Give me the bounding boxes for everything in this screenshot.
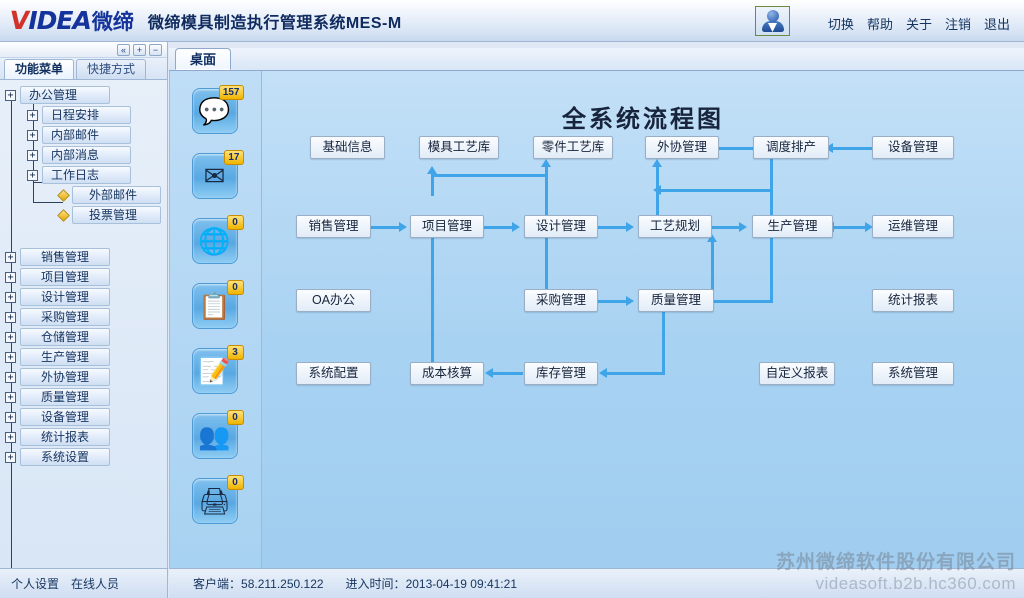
tab-desktop[interactable]: 桌面 — [175, 48, 231, 70]
contacts-glyph: 👥 — [198, 423, 230, 449]
tree-toggle-icon[interactable]: + — [5, 292, 16, 303]
tree-toggle-icon[interactable]: + — [27, 110, 38, 121]
conn-line — [598, 226, 627, 229]
tree-node-work-log[interactable]: + 工作日志 — [0, 165, 167, 185]
sidebar-tree: + 办公管理 + 日程安排 + 内部邮件 + 内部消息 + 工作日志 外部邮件 … — [0, 81, 168, 568]
conn-arrow-up — [652, 159, 662, 167]
rail-item-printer[interactable]: 0 🖨 — [192, 478, 240, 526]
tree-node-label[interactable]: 内部消息 — [42, 146, 131, 164]
tree-node-label[interactable]: 办公管理 — [20, 86, 110, 104]
flow-box-yunweiguanli[interactable]: 运维管理 — [872, 215, 954, 238]
tree-toggle-icon[interactable]: + — [27, 150, 38, 161]
conn-line — [770, 189, 773, 303]
conn-line — [493, 372, 523, 375]
flow-box-zidingyibaobiao[interactable]: 自定义报表 — [759, 362, 835, 385]
conn-line — [371, 226, 400, 229]
sidebar-toolbar: « + − — [0, 42, 167, 58]
flow-box-xiaoshouguanli[interactable]: 销售管理 — [296, 215, 371, 238]
header-menu-help[interactable]: 帮助 — [867, 14, 893, 33]
document-list-badge: 3 — [227, 345, 244, 360]
flow-box-mojugongyiku[interactable]: 模具工艺库 — [419, 136, 499, 159]
tree-toggle-icon[interactable]: + — [27, 170, 38, 181]
tree-toggle-icon[interactable]: + — [5, 312, 16, 323]
header-menu-logout[interactable]: 注销 — [945, 14, 971, 33]
tree-node-schedule[interactable]: + 日程安排 — [0, 105, 167, 125]
mail-badge: 17 — [224, 150, 243, 165]
conn-line — [484, 226, 513, 229]
sidebar-item-equipment[interactable]: + 设备管理 — [0, 407, 167, 427]
flow-box-jichuxinxi[interactable]: 基础信息 — [310, 136, 385, 159]
sidebar-item-design[interactable]: + 设计管理 — [0, 287, 167, 307]
sidebar-item-project[interactable]: + 项目管理 — [0, 267, 167, 287]
tree-node-label[interactable]: 日程安排 — [42, 106, 131, 124]
logo-idea-text: IDEA — [28, 6, 90, 35]
globe-glyph: 🌐 — [198, 228, 230, 254]
flow-box-caigouguanli[interactable]: 采购管理 — [524, 289, 598, 312]
sidebar-item-quality[interactable]: + 质量管理 — [0, 387, 167, 407]
globe-badge: 0 — [227, 215, 244, 230]
conn-line — [607, 372, 665, 375]
tree-node-internal-mail[interactable]: + 内部邮件 — [0, 125, 167, 145]
sidebar-item-label[interactable]: 统计报表 — [20, 428, 110, 446]
sidebar-item-label[interactable]: 仓储管理 — [20, 328, 110, 346]
sidebar-item-production[interactable]: + 生产管理 — [0, 347, 167, 367]
avatar[interactable] — [755, 6, 790, 36]
rail-item-contacts[interactable]: 0 👥 — [192, 413, 240, 461]
flow-box-gongyiguihua[interactable]: 工艺规划 — [638, 215, 712, 238]
conn-line — [598, 300, 627, 303]
tree-node-label[interactable]: 工作日志 — [42, 166, 131, 184]
conn-arrow-left — [653, 185, 661, 195]
printer-glyph: 🖨 — [198, 488, 231, 514]
rail-item-globe[interactable]: 0 🌐 — [192, 218, 240, 266]
rail-item-mail[interactable]: 17 ✉ — [192, 153, 240, 201]
conn-arrow-up — [427, 166, 437, 174]
sidebar-item-label[interactable]: 外协管理 — [20, 368, 110, 386]
tab-shortcuts[interactable]: 快捷方式 — [76, 59, 146, 79]
sidebar-item-label[interactable]: 质量管理 — [20, 388, 110, 406]
sidebar-item-label[interactable]: 项目管理 — [20, 268, 110, 286]
tree-leaf-diamond-icon — [57, 209, 70, 222]
personal-settings-link[interactable]: 个人设置 — [11, 575, 59, 592]
online-users-link[interactable]: 在线人员 — [71, 575, 119, 592]
header-menu-exit[interactable]: 退出 — [984, 14, 1010, 33]
conn-line — [431, 238, 434, 364]
notes-badge: 0 — [227, 280, 244, 295]
conn-arrow-up — [541, 159, 551, 167]
tree-toggle-icon[interactable]: + — [5, 252, 16, 263]
tree-leaf-diamond-icon — [57, 189, 70, 202]
tree-toggle-icon[interactable]: + — [5, 90, 16, 101]
tree-node-office-management[interactable]: + 办公管理 — [0, 85, 167, 105]
tree-toggle-icon[interactable]: + — [5, 352, 16, 363]
conn-arrow-right — [399, 222, 407, 232]
flow-box-tongjibaobiao[interactable]: 统计报表 — [872, 289, 954, 312]
conn-line — [431, 174, 547, 177]
notes-glyph: 📋 — [198, 293, 230, 319]
conn-line — [712, 226, 740, 229]
sidebar-item-label[interactable]: 设备管理 — [20, 408, 110, 426]
tree-toggle-icon[interactable]: + — [5, 392, 16, 403]
tree-node-label[interactable]: 投票管理 — [72, 206, 161, 224]
flow-box-xiangmuguanli[interactable]: 项目管理 — [410, 215, 484, 238]
flow-box-lingjiangongyiku[interactable]: 零件工艺库 — [533, 136, 613, 159]
flow-box-zhiliangguanli[interactable]: 质量管理 — [638, 289, 714, 312]
flowchart: 全系统流程图 — [262, 71, 1024, 568]
document-list-glyph: 📝 — [198, 358, 230, 384]
conn-line — [833, 147, 876, 150]
collapse-all-icon[interactable]: − — [149, 44, 162, 56]
flow-box-oabangong[interactable]: OA办公 — [296, 289, 371, 312]
avatar-head-shape — [767, 10, 779, 22]
logo-v-mark: V — [8, 6, 30, 35]
conn-line — [545, 238, 548, 292]
collapse-icon[interactable]: « — [117, 44, 130, 56]
conn-arrow-right — [626, 222, 634, 232]
flow-box-xitongguanli[interactable]: 系统管理 — [872, 362, 954, 385]
flowchart-title: 全系统流程图 — [262, 99, 1024, 134]
app-header: VIDEA微缔 微缔模具制造执行管理系统MES-M 切换 帮助 关于 注销 退出 — [0, 0, 1024, 42]
tree-node-label[interactable]: 内部邮件 — [42, 126, 131, 144]
conn-arrow-right — [739, 222, 747, 232]
tree-node-external-mail[interactable]: 外部邮件 — [0, 185, 167, 205]
sidebar-tabs: 功能菜单 快捷方式 — [0, 58, 167, 80]
contacts-badge: 0 — [227, 410, 244, 425]
status-bar: 客户端：58.211.250.122 进入时间：2013-04-19 09:41… — [169, 568, 1024, 598]
sidebar: « + − 功能菜单 快捷方式 + 办公管理 + 日程安排 + 内部邮件 + 内 — [0, 42, 168, 568]
header-menu-about[interactable]: 关于 — [906, 14, 932, 33]
rail-item-message[interactable]: 157 💬 — [192, 88, 240, 136]
conn-line — [662, 303, 665, 372]
flow-box-chengbenhesuan[interactable]: 成本核算 — [410, 362, 484, 385]
conn-arrow-right — [512, 222, 520, 232]
client-label: 客户端： — [193, 577, 241, 591]
flow-box-shengchanguanli[interactable]: 生产管理 — [752, 215, 833, 238]
printer-badge: 0 — [227, 475, 244, 490]
client-value: 58.211.250.122 — [241, 577, 324, 591]
conn-line — [833, 226, 866, 229]
flow-box-waixieguanli[interactable]: 外协管理 — [645, 136, 719, 159]
flow-box-diaodupaichan[interactable]: 调度排产 — [753, 136, 829, 159]
tab-function-menu[interactable]: 功能菜单 — [4, 59, 74, 79]
sidebar-item-sales[interactable]: + 销售管理 — [0, 247, 167, 267]
tree-toggle-icon[interactable]: + — [5, 372, 16, 383]
conn-line — [714, 147, 754, 150]
tree-toggle-icon[interactable]: + — [5, 332, 16, 343]
conn-arrow-left — [485, 368, 493, 378]
rail-item-document-list[interactable]: 3 📝 — [192, 348, 240, 396]
tree-node-label[interactable]: 外部邮件 — [72, 186, 161, 204]
login-time-label: 进入时间： — [346, 577, 406, 591]
login-time-info: 进入时间：2013-04-19 09:41:21 — [346, 575, 517, 592]
client-info: 客户端：58.211.250.122 — [193, 575, 324, 592]
tree-toggle-icon[interactable]: + — [5, 432, 16, 443]
sidebar-item-purchase[interactable]: + 采购管理 — [0, 307, 167, 327]
sidebar-item-outsourcing[interactable]: + 外协管理 — [0, 367, 167, 387]
message-badge: 157 — [219, 85, 244, 100]
tree-toggle-icon[interactable]: + — [27, 130, 38, 141]
brand-logo: VIDEA微缔 — [10, 6, 134, 36]
message-glyph: 💬 — [198, 98, 230, 124]
tree-toggle-icon[interactable]: + — [5, 272, 16, 283]
flow-box-kucunguanli[interactable]: 库存管理 — [524, 362, 598, 385]
sidebar-footer: 个人设置 在线人员 — [0, 568, 168, 598]
main-tabs: 桌面 — [169, 48, 1024, 71]
mail-glyph: ✉ — [204, 163, 226, 189]
sidebar-item-label[interactable]: 系统设置 — [20, 448, 110, 466]
sidebar-item-label[interactable]: 生产管理 — [20, 348, 110, 366]
header-menu-switch[interactable]: 切换 — [828, 14, 854, 33]
tree-node-vote-management[interactable]: 投票管理 — [0, 205, 167, 225]
conn-line — [714, 300, 773, 303]
tree-toggle-icon[interactable]: + — [5, 412, 16, 423]
page-title: 微缔模具制造执行管理系统MES-M — [148, 9, 402, 33]
sidebar-item-system-settings[interactable]: + 系统设置 — [0, 447, 167, 467]
expand-all-icon[interactable]: + — [133, 44, 146, 56]
login-time-value: 2013-04-19 09:41:21 — [406, 577, 517, 591]
sidebar-item-label[interactable]: 设计管理 — [20, 288, 110, 306]
rail-item-notes[interactable]: 0 📋 — [192, 283, 240, 331]
flow-box-xitongpeizhi[interactable]: 系统配置 — [296, 362, 371, 385]
conn-line — [431, 174, 434, 196]
flow-box-shejiguanli[interactable]: 设计管理 — [524, 215, 598, 238]
tree-node-internal-message[interactable]: + 内部消息 — [0, 145, 167, 165]
tree-toggle-icon[interactable]: + — [5, 452, 16, 463]
conn-line — [661, 189, 773, 192]
flow-box-shebeiguanli[interactable]: 设备管理 — [872, 136, 954, 159]
conn-arrow-right — [626, 296, 634, 306]
header-menu: 切换 帮助 关于 注销 退出 — [828, 14, 1010, 33]
icon-rail: 157 💬 17 ✉ 0 🌐 0 📋 3 📝 0 👥 0 🖨 — [170, 71, 262, 568]
main-content: 157 💬 17 ✉ 0 🌐 0 📋 3 📝 0 👥 0 🖨 全系统流程图 — [169, 71, 1024, 568]
logo-chinese-text: 微缔 — [92, 6, 134, 36]
conn-arrow-left — [599, 368, 607, 378]
sidebar-item-label[interactable]: 销售管理 — [20, 248, 110, 266]
sidebar-item-warehouse[interactable]: + 仓储管理 — [0, 327, 167, 347]
sidebar-item-reports[interactable]: + 统计报表 — [0, 427, 167, 447]
sidebar-item-label[interactable]: 采购管理 — [20, 308, 110, 326]
